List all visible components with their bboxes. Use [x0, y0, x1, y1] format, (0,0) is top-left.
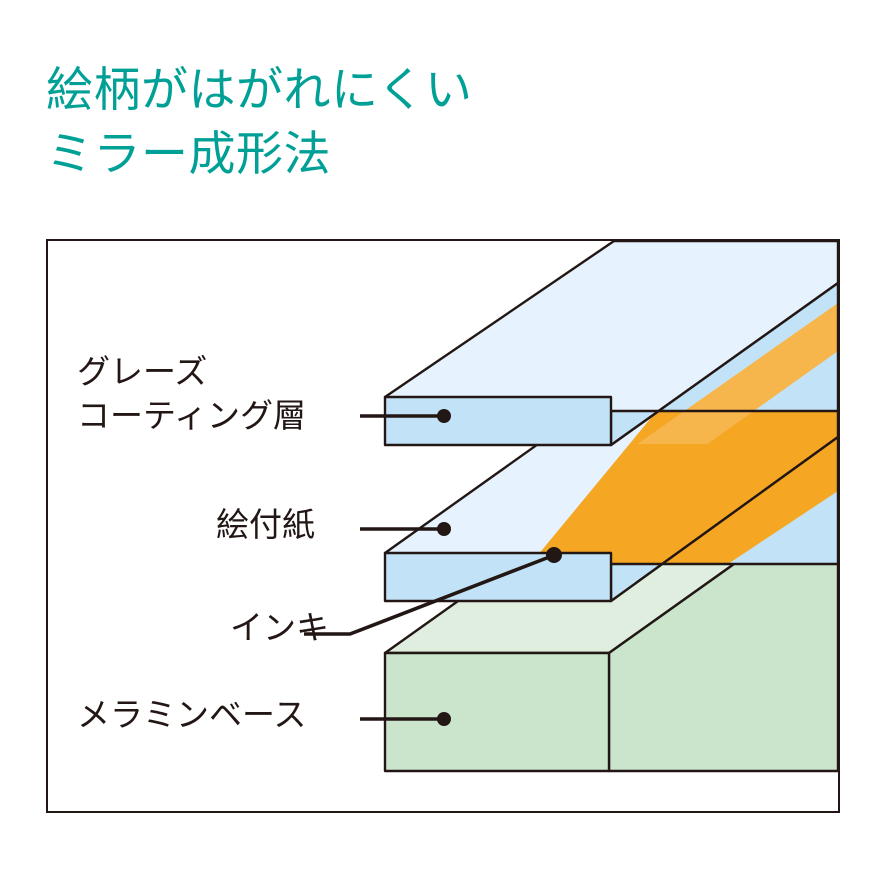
label-melamine-base: メラミンベース [77, 693, 306, 737]
label-melamine-line-1: メラミンベース [77, 693, 306, 737]
page-title-line-1: 絵柄がはがれにくい [46, 58, 746, 122]
label-paper-line-1: 絵付紙 [216, 503, 315, 547]
leader-dot-melamine [437, 712, 451, 726]
label-glaze-line-1: グレーズ [77, 350, 306, 394]
page-title: 絵柄がはがれにくい ミラー成形法 [46, 58, 746, 186]
label-ink-line-1: インキ [230, 606, 329, 650]
glaze-front-face [385, 397, 611, 445]
melamine-base-front-face [385, 653, 609, 771]
leader-dot-glaze [437, 409, 451, 423]
label-glaze-line-2: コーティング層 [77, 394, 306, 438]
label-decorated-paper: 絵付紙 [216, 503, 315, 547]
leader-dot-paper [437, 522, 451, 536]
label-glaze-coating-layer: グレーズ コーティング層 [77, 350, 306, 438]
diagram-page: 絵柄がはがれにくい ミラー成形法 [0, 0, 886, 886]
leader-dot-ink [546, 547, 562, 563]
page-title-line-2: ミラー成形法 [46, 122, 746, 186]
label-ink: インキ [230, 606, 329, 650]
